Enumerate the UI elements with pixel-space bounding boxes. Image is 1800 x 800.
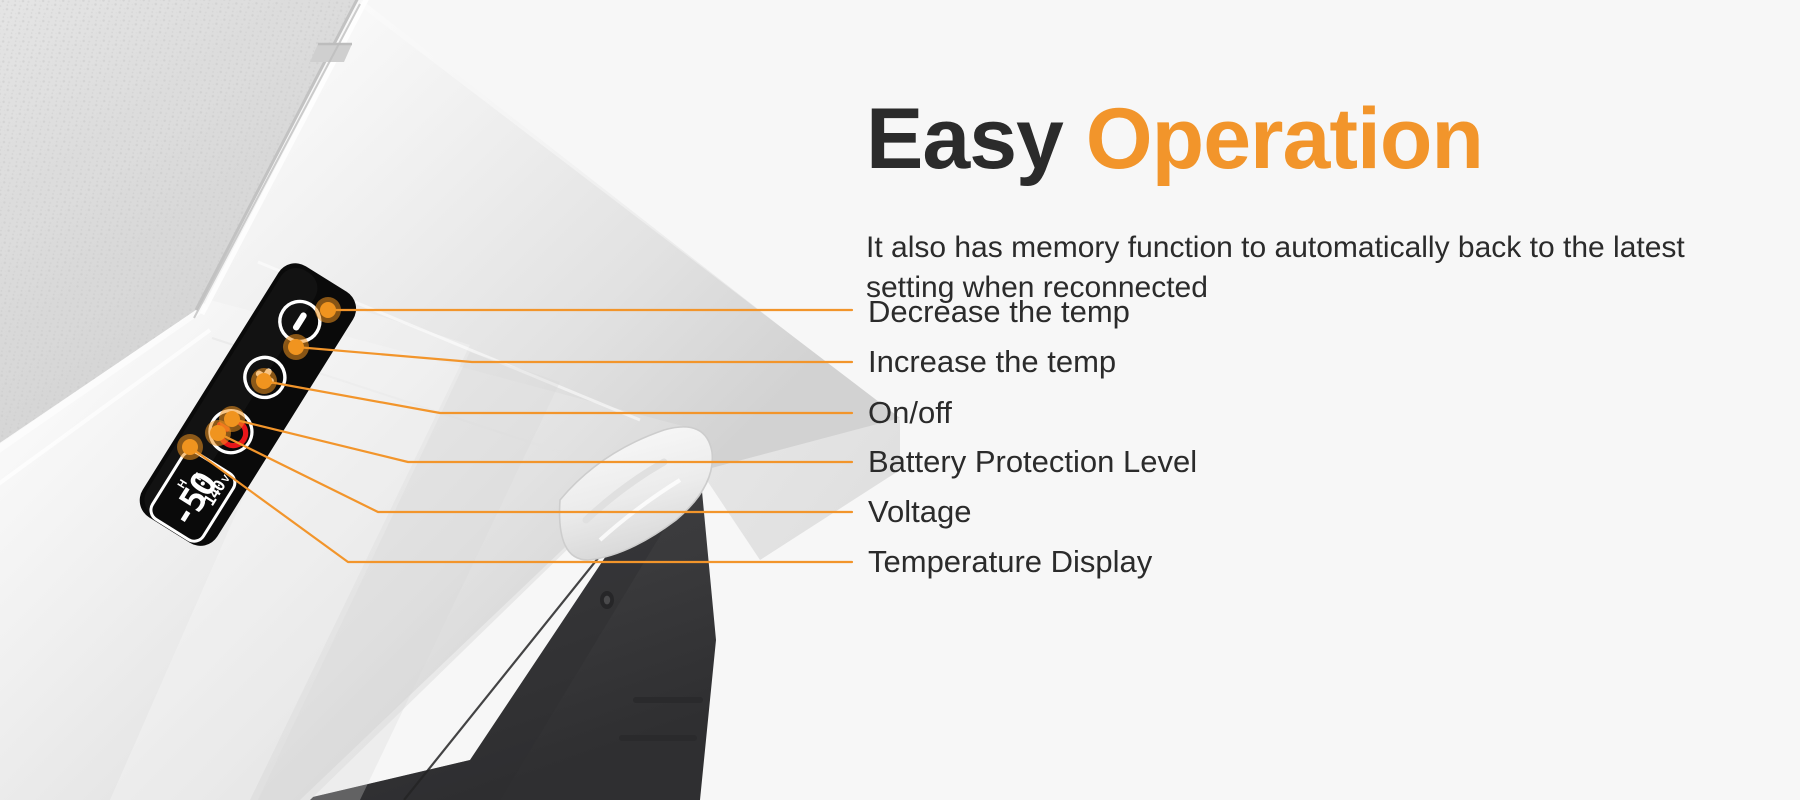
- title-word-operation: Operation: [1086, 91, 1483, 187]
- callout-label-increase-temp: Increase the temp: [868, 346, 1116, 377]
- product-illustration: -50 °F 140 V H: [0, 0, 900, 800]
- body-screw-center: [604, 596, 610, 605]
- product-image: -50 °F 140 V H: [0, 0, 900, 800]
- page-title: Easy Operation: [866, 96, 1483, 182]
- callout-label-on-off: On/off: [868, 397, 952, 428]
- title-word-easy: Easy: [866, 91, 1063, 187]
- callout-label-temperature: Temperature Display: [868, 546, 1152, 577]
- callout-label-battery-level: Battery Protection Level: [868, 446, 1197, 477]
- infographic-root: -50 °F 140 V H Easy Operation It also ha…: [0, 0, 1800, 800]
- callout-label-decrease-temp: Decrease the temp: [868, 296, 1130, 327]
- callout-label-voltage: Voltage: [868, 496, 971, 527]
